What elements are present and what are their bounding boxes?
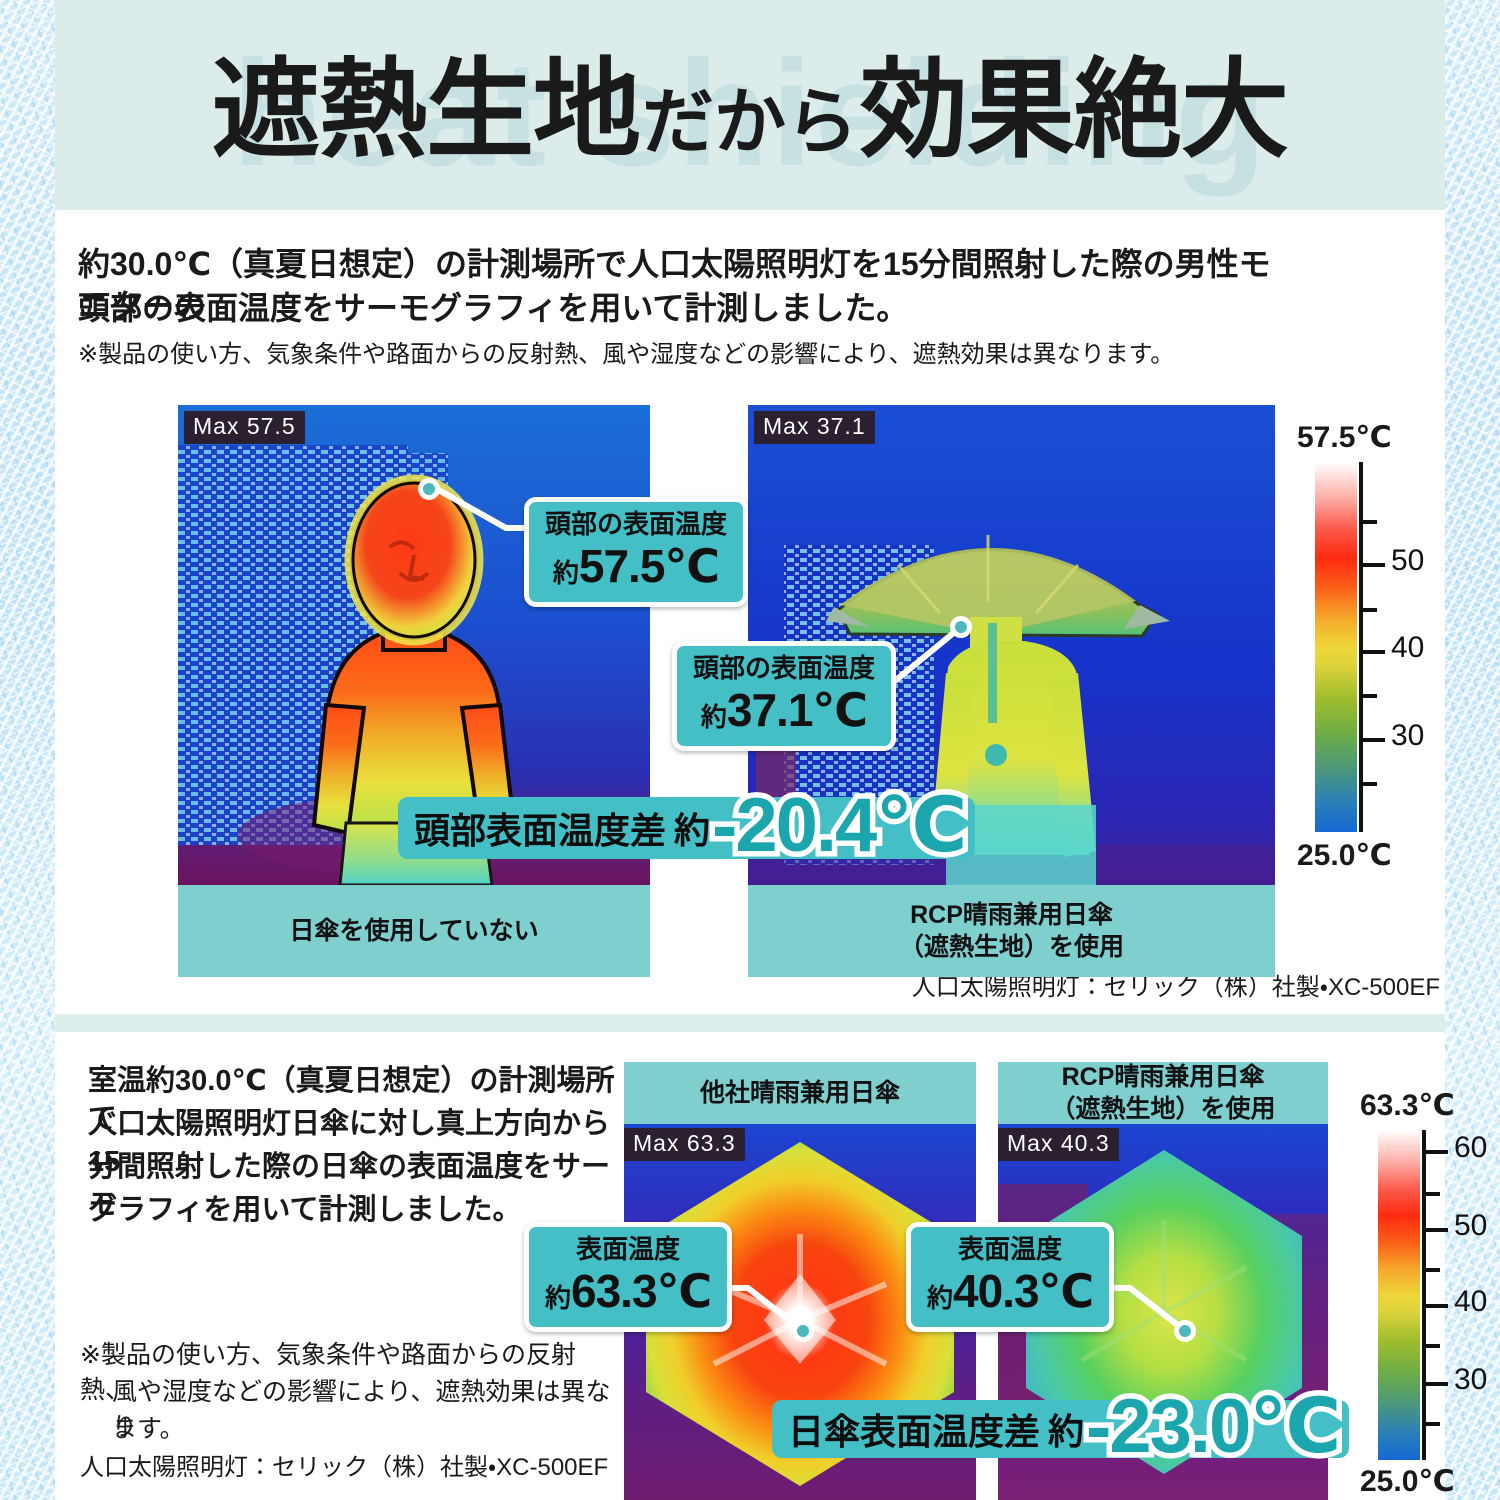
callout-head-temp-unshaded-value: 約57.5℃: [545, 542, 727, 590]
diff-banner-umbrella-label: 日傘表面温度差: [772, 1403, 1040, 1455]
tick-minor: [1359, 782, 1377, 786]
tick-label-40: 40: [1454, 1285, 1487, 1319]
caption-with-umbrella-line-2: （遮熱生地）を使用: [899, 931, 1124, 963]
section1-lead-line-2: 頭部の表面温度をサーモグラフィを用いて計測しました。: [78, 287, 1278, 329]
tick-major-30: [1422, 1382, 1448, 1386]
tick-minor: [1422, 1344, 1440, 1348]
tick-label-50: 50: [1391, 544, 1424, 578]
callout-surface-temp-rcp-label: 表面温度: [927, 1235, 1093, 1265]
callout-surface-temp-rcp-value: 約40.3℃: [927, 1267, 1093, 1315]
section2-note-line-3: ます。: [112, 1412, 632, 1447]
color-scale-section2-min: 25.0℃: [1360, 1464, 1455, 1499]
color-scale-section2-gradient: [1378, 1130, 1420, 1460]
tick-major-40: [1359, 650, 1385, 654]
caption-with-umbrella: RCP晴雨兼用日傘 （遮熱生地）を使用: [748, 885, 1275, 977]
color-scale-section1-min: 25.0℃: [1297, 838, 1392, 873]
callout-head-temp-shaded-label: 頭部の表面温度: [693, 654, 875, 684]
panel-header-rcp-line-2: （遮熱生地）を使用: [1050, 1093, 1275, 1125]
max-badge-other-brand: Max 63.3: [624, 1128, 745, 1161]
callout-head-temp-unshaded[interactable]: 頭部の表面温度 約57.5℃: [524, 497, 748, 607]
page-title: 遮熱生地だから効果絶大: [55, 56, 1445, 164]
diff-banner-head-label: 頭部表面温度差: [398, 802, 666, 854]
section2-credit: 人口太陽照明灯：セリック（株）社製・XC-500EF: [80, 1452, 640, 1483]
title-part-1: 遮熱生地: [212, 49, 640, 170]
section-divider: [55, 1014, 1445, 1032]
tick-minor: [1359, 694, 1377, 698]
max-badge-with-umbrella: Max 37.1: [754, 411, 875, 444]
panel-header-rcp-line-1: RCP晴雨兼用日傘: [1062, 1061, 1265, 1093]
color-scale-section1-gradient: [1315, 462, 1357, 832]
page-header: heat shielding 遮熱生地だから効果絶大: [55, 0, 1445, 210]
caption-with-umbrella-line-1: RCP晴雨兼用日傘: [910, 899, 1113, 931]
panel-header-rcp: RCP晴雨兼用日傘 （遮熱生地）を使用: [998, 1062, 1328, 1124]
callout-surface-temp-other-value: 約63.3℃: [545, 1267, 711, 1315]
measure-dot-57: [418, 478, 440, 500]
diff-banner-head: 頭部表面温度差 約 -20.4℃: [398, 797, 975, 859]
callout-head-temp-shaded[interactable]: 頭部の表面温度 約37.1℃: [672, 641, 896, 751]
tick-label-60: 60: [1454, 1131, 1487, 1165]
color-scale-section2-max: 63.3℃: [1360, 1088, 1455, 1123]
tick-major-50: [1422, 1228, 1448, 1232]
tick-label-30: 30: [1391, 719, 1424, 753]
section1-note: ※製品の使い方、気象条件や路面からの反射熱、風や湿度などの影響により、遮熱効果は…: [78, 338, 1328, 371]
color-scale-section1-axis: [1359, 462, 1363, 832]
tick-minor: [1359, 520, 1377, 524]
caption-no-umbrella: 日傘を使用していない: [178, 885, 650, 977]
tick-minor: [1422, 1268, 1440, 1272]
diff-banner-head-prefix: 約: [666, 802, 712, 854]
tick-label-30: 30: [1454, 1363, 1487, 1397]
tick-minor: [1422, 1422, 1440, 1426]
color-scale-section1-max: 57.5℃: [1297, 420, 1392, 455]
panel-header-other-brand: 他社晴雨兼用日傘: [624, 1062, 976, 1124]
title-part-3: 効果絶大: [860, 49, 1288, 170]
frost-border-left: [0, 0, 55, 1500]
tick-major-60: [1422, 1150, 1448, 1154]
callout-head-temp-shaded-value: 約37.1℃: [693, 686, 875, 734]
tick-major-40: [1422, 1304, 1448, 1308]
diff-banner-umbrella-prefix: 約: [1040, 1403, 1086, 1455]
diff-banner-umbrella-value: -23.0℃: [1086, 1393, 1339, 1461]
measure-dot-63: [792, 1320, 814, 1342]
tick-label-50: 50: [1454, 1209, 1487, 1243]
tick-major-50: [1359, 563, 1385, 567]
diff-banner-umbrella: 日傘表面温度差 約 -23.0℃: [772, 1400, 1349, 1458]
color-scale-section2-axis: [1422, 1130, 1426, 1460]
callout-surface-temp-other[interactable]: 表面温度 約63.3℃: [524, 1222, 732, 1332]
callout-surface-temp-rcp[interactable]: 表面温度 約40.3℃: [906, 1222, 1114, 1332]
caption-no-umbrella-text: 日傘を使用していない: [289, 915, 538, 947]
color-scale-section2: 63.3℃ 25.0℃ 60 50 40 30: [1378, 1088, 1498, 1500]
callout-surface-temp-other-label: 表面温度: [545, 1235, 711, 1265]
max-badge-no-umbrella: Max 57.5: [184, 411, 305, 444]
title-part-2: だから: [640, 83, 860, 163]
diff-banner-head-value: -20.4℃: [712, 792, 965, 860]
callout-head-temp-unshaded-label: 頭部の表面温度: [545, 510, 727, 540]
color-scale-section1: 57.5℃ 25.0℃ 50 40 30: [1315, 420, 1435, 875]
tick-minor: [1359, 608, 1377, 612]
measure-dot-37: [950, 616, 972, 638]
tick-major-30: [1359, 738, 1385, 742]
max-badge-rcp: Max 40.3: [998, 1128, 1119, 1161]
panel-header-other-brand-text: 他社晴雨兼用日傘: [700, 1077, 900, 1109]
tick-minor: [1422, 1192, 1440, 1196]
measure-dot-40: [1174, 1320, 1196, 1342]
tick-label-40: 40: [1391, 631, 1424, 665]
